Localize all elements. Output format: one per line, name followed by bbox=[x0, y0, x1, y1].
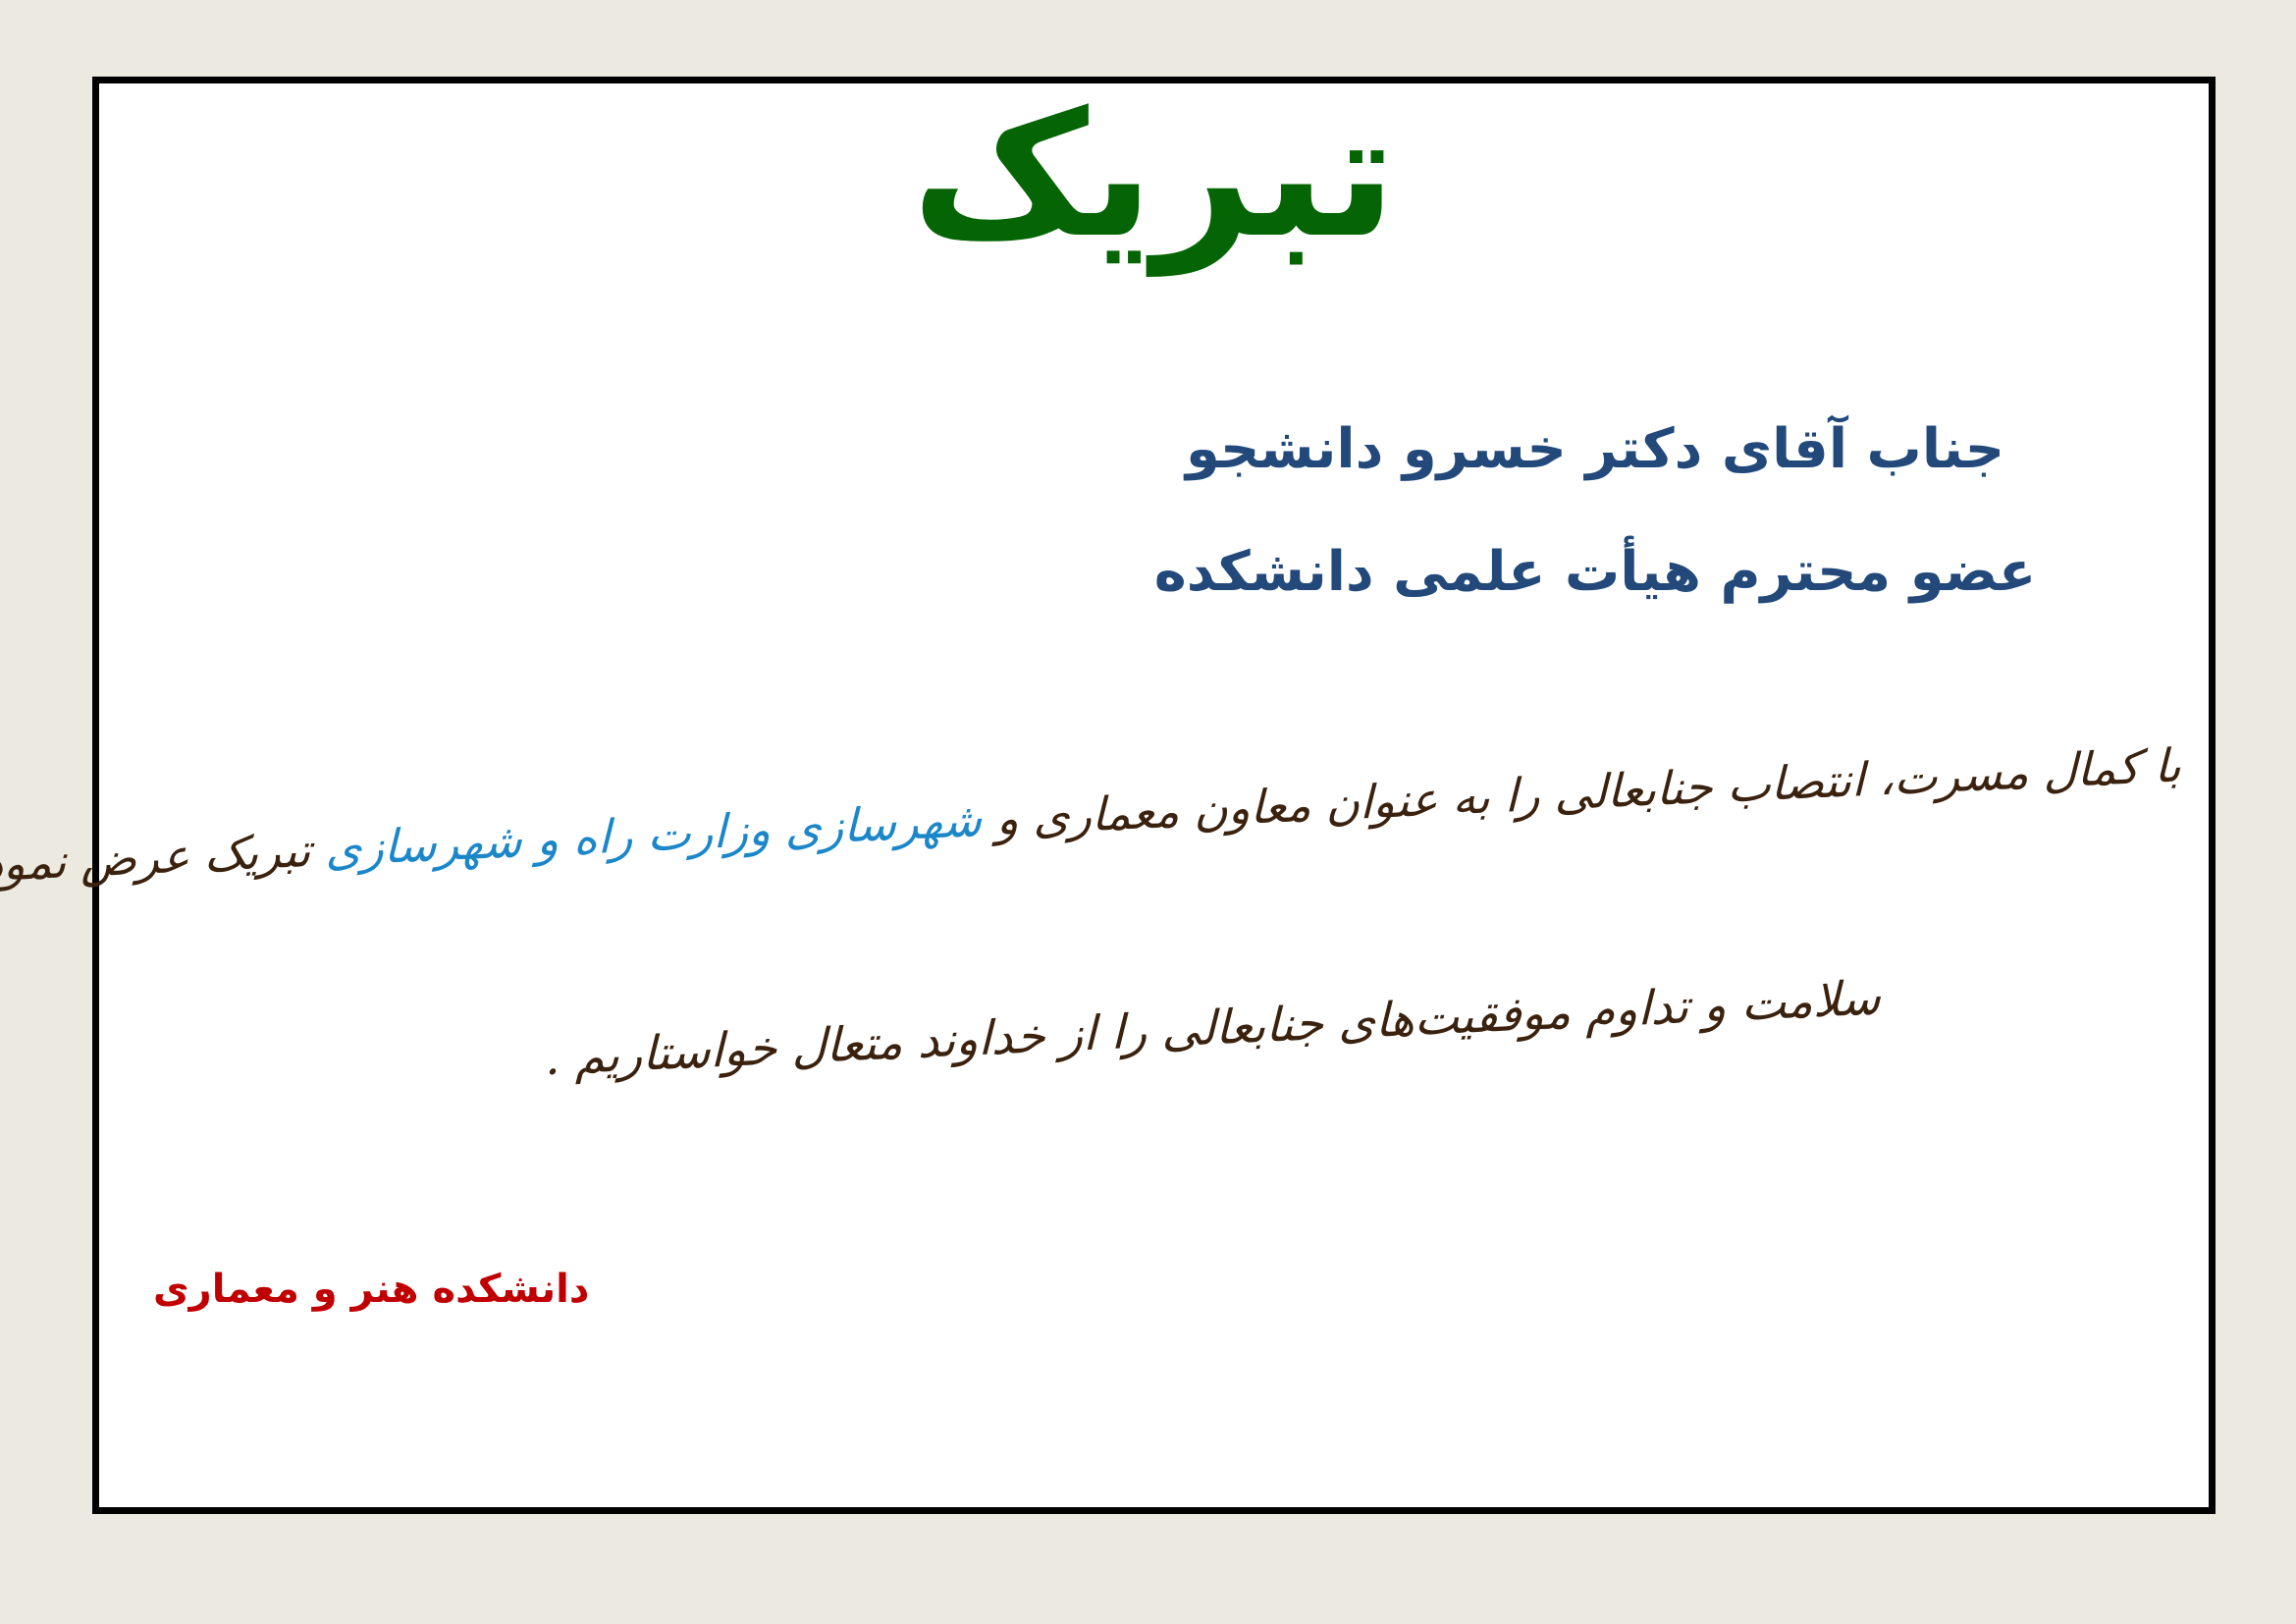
salutation-block: جناب آقای دکتر خسرو دانشجو عضو محترم هیأ… bbox=[1076, 407, 2116, 616]
body-segment-blue: شهرسازی وزارت راه و شهرسازی bbox=[312, 793, 984, 878]
salutation-line-title: عضو محترم هیأت علمی دانشکده bbox=[1076, 530, 2116, 616]
body-paragraph-1: با کمال مسرت، انتصاب جنابعالی را به عنوا… bbox=[118, 731, 2192, 894]
signature-faculty: دانشکده هنر و معماری bbox=[154, 1264, 590, 1315]
page-title: تبریک bbox=[100, 68, 2210, 284]
body-block: با کمال مسرت، انتصاب جنابعالی را به عنوا… bbox=[118, 731, 2192, 1019]
body-paragraph-2: سلامت و تداوم موفقیت‌های جنابعالی را از … bbox=[118, 948, 2192, 1113]
poster-stage: تبریک جناب آقای دکتر خسرو دانشجو عضو محت… bbox=[0, 0, 2296, 1624]
announcement-card: تبریک جناب آقای دکتر خسرو دانشجو عضو محت… bbox=[93, 77, 2216, 1514]
salutation-line-name: جناب آقای دکتر خسرو دانشجو bbox=[1076, 407, 2116, 493]
body-segment-brown-a: با کمال مسرت، انتصاب جنابعالی را به عنوا… bbox=[983, 738, 2182, 846]
body-segment-brown-b: تبریک عرض نموده، bbox=[0, 824, 312, 894]
card-inner: تبریک جناب آقای دکتر خسرو دانشجو عضو محت… bbox=[100, 83, 2210, 1507]
body-segment-brown-c: سلامت و تداوم موفقیت‌های جنابعالی را از … bbox=[546, 970, 1881, 1086]
